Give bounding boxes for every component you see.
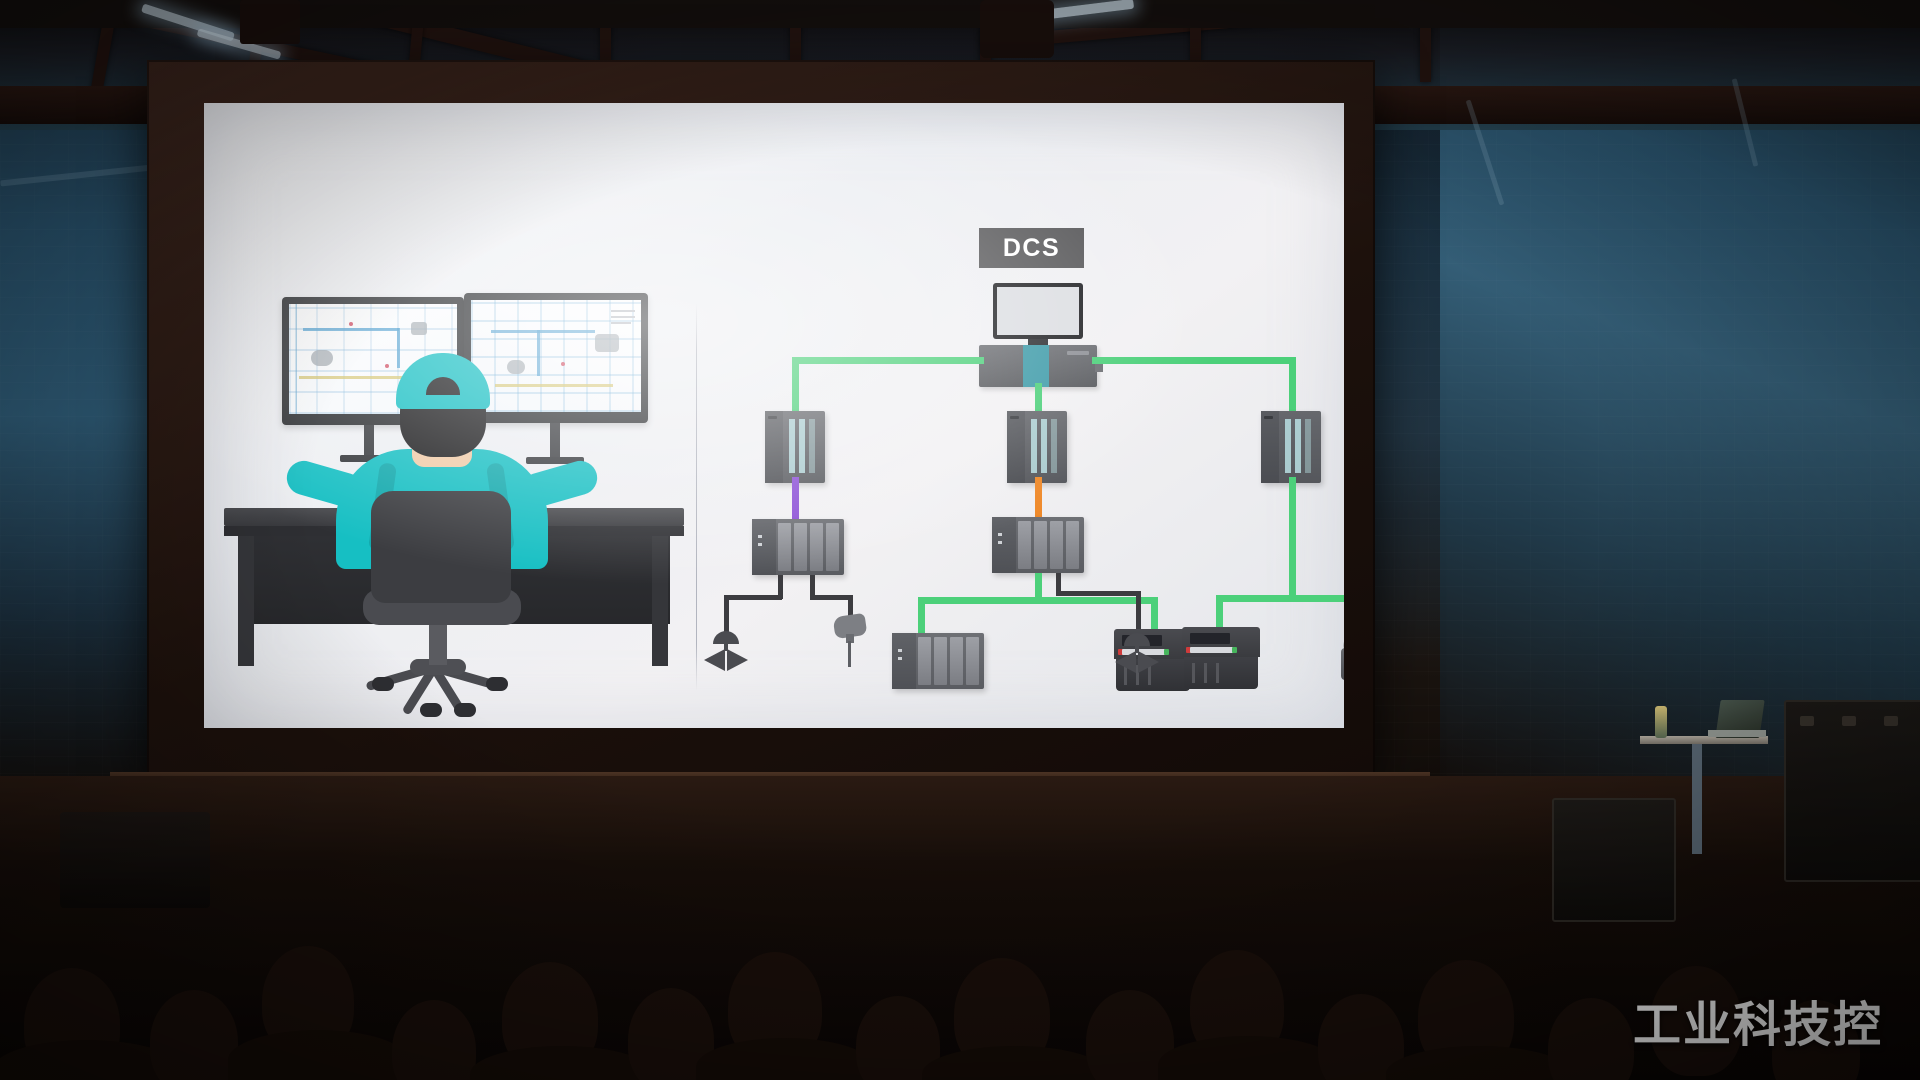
hmi-equipment — [507, 360, 525, 374]
hmi-text-line — [611, 316, 635, 318]
plc-module — [789, 419, 795, 473]
plc-module — [1051, 419, 1057, 473]
stage-speaker — [60, 812, 210, 908]
road-case-latch — [1800, 716, 1814, 726]
valve-body-right — [1138, 651, 1159, 673]
chair-wheel — [454, 703, 476, 717]
io-module — [950, 637, 963, 685]
water-bottle — [1655, 706, 1667, 738]
io-led — [998, 533, 1002, 536]
io-module — [934, 637, 947, 685]
signal-wire — [810, 595, 852, 600]
network-switch — [979, 345, 1097, 387]
hmi-equipment — [595, 334, 619, 352]
projector-unit — [980, 0, 1054, 58]
signal-wire — [1136, 591, 1141, 633]
road-case-latch — [1842, 716, 1856, 726]
io-module — [1050, 521, 1063, 569]
signal-wire — [1056, 591, 1140, 596]
right-monitor — [464, 293, 648, 423]
io-led — [758, 535, 762, 538]
chair-wheel — [372, 677, 394, 691]
operator-workstation — [224, 253, 684, 683]
io-rack-center — [992, 517, 1084, 573]
io-module — [966, 637, 979, 685]
io-rack-bottom-left — [892, 633, 984, 689]
plc-label — [1264, 416, 1273, 419]
switch-label — [1067, 351, 1089, 355]
hmi-pipe — [397, 328, 400, 368]
hmi-pipe — [299, 376, 417, 379]
plc-right — [1261, 411, 1321, 483]
io-cpu — [892, 633, 916, 689]
io-module — [1034, 521, 1047, 569]
drive-keypad — [1190, 647, 1234, 653]
drive-fin — [1216, 663, 1219, 683]
io-rack-left — [752, 519, 844, 575]
plc-label — [1010, 416, 1019, 419]
plc-module — [799, 419, 805, 473]
ethernet-bus-left — [792, 357, 984, 364]
transmitter-probe — [848, 641, 851, 667]
io-module — [794, 523, 807, 571]
io-led — [898, 657, 902, 660]
ethernet-right-bus — [1216, 595, 1344, 602]
encoder-right — [1337, 637, 1344, 683]
io-module — [778, 523, 791, 571]
plc-module — [1031, 419, 1037, 473]
io-module — [1018, 521, 1031, 569]
desk-leg-left — [238, 536, 254, 666]
chair-post — [429, 619, 447, 665]
projection-screen-frame: DCS — [147, 60, 1375, 776]
laptop-base — [1708, 730, 1766, 737]
ethernet-bus-right — [1092, 357, 1296, 364]
road-case-latch — [1884, 716, 1898, 726]
ethernet-sub-left — [918, 597, 925, 637]
chair-wheel — [486, 677, 508, 691]
io-module — [918, 637, 931, 685]
control-valve-left — [704, 631, 748, 671]
chair-backrest — [371, 491, 511, 603]
hmi-alarm-dot — [561, 362, 565, 366]
drive-fin — [1192, 663, 1195, 683]
io-module — [826, 523, 839, 571]
ethernet-right-trunk — [1289, 477, 1296, 599]
right-monitor-stand — [550, 423, 560, 457]
drive-body — [1184, 657, 1258, 689]
plc-cpu — [1261, 411, 1279, 483]
plc-label — [768, 416, 777, 419]
ethernet-sub-bus — [918, 597, 1158, 604]
desk-leg-right — [652, 536, 668, 666]
right-monitor-screen — [471, 300, 641, 412]
plc-module — [1285, 419, 1291, 473]
io-led — [998, 541, 1002, 544]
hmi-text-line — [611, 310, 635, 312]
hmi-alarm-dot — [385, 364, 389, 368]
valve-body-right — [727, 649, 748, 671]
hmi-alarm-dot — [349, 322, 353, 326]
fieldbus-link — [1035, 477, 1042, 519]
drive-right — [1182, 627, 1260, 689]
plc-module — [1305, 419, 1311, 473]
transmitter-left — [830, 615, 870, 667]
encoder-body — [1341, 648, 1344, 680]
hmi-pipe — [495, 384, 613, 387]
hmi-pipe — [303, 328, 399, 331]
hmi-pipe — [491, 330, 595, 333]
signal-wire — [724, 595, 729, 635]
hmi-equipment — [411, 322, 427, 335]
plc-cpu — [765, 411, 783, 483]
projection-screen: DCS — [204, 103, 1344, 728]
signal-wire — [724, 595, 782, 600]
valve-body-left — [1115, 651, 1136, 673]
plc-left — [765, 411, 825, 483]
chair-wheel — [420, 703, 442, 717]
left-monitor-stand — [364, 425, 374, 457]
io-cpu — [992, 517, 1016, 573]
io-led — [898, 649, 902, 652]
drive-display — [1190, 633, 1230, 644]
dcs-network-diagram — [696, 233, 1344, 713]
ethernet-right-drop-a — [1216, 595, 1223, 631]
profibus-link — [792, 477, 799, 521]
plc-module — [1041, 419, 1047, 473]
io-cpu — [752, 519, 776, 575]
drive-run-led — [1164, 649, 1169, 655]
valve-body-left — [704, 649, 725, 671]
operator-station-monitor — [993, 283, 1083, 339]
plc-module — [1295, 419, 1301, 473]
hmi-pipe — [537, 330, 540, 376]
ethernet-drop-left — [792, 357, 799, 411]
lighting-rig — [240, 0, 300, 44]
drive-run-led — [1232, 647, 1237, 653]
control-valve-field-center — [1115, 633, 1159, 673]
drive-fin — [1204, 663, 1207, 683]
io-module — [1066, 521, 1079, 569]
screenshot-root: DCS — [0, 0, 1920, 1080]
io-led — [758, 543, 762, 546]
hmi-equipment — [311, 350, 333, 366]
hmi-text-line — [611, 322, 631, 324]
road-case-1 — [1784, 700, 1920, 882]
plc-module — [809, 419, 815, 473]
watermark: 工业科技控 — [1633, 985, 1883, 1055]
road-case-2 — [1552, 798, 1676, 922]
io-module — [810, 523, 823, 571]
switch-accent — [1023, 345, 1049, 387]
plc-center — [1007, 411, 1067, 483]
ethernet-drop-right — [1289, 357, 1296, 411]
plc-cpu — [1007, 411, 1025, 483]
podium-stand — [1692, 744, 1702, 854]
